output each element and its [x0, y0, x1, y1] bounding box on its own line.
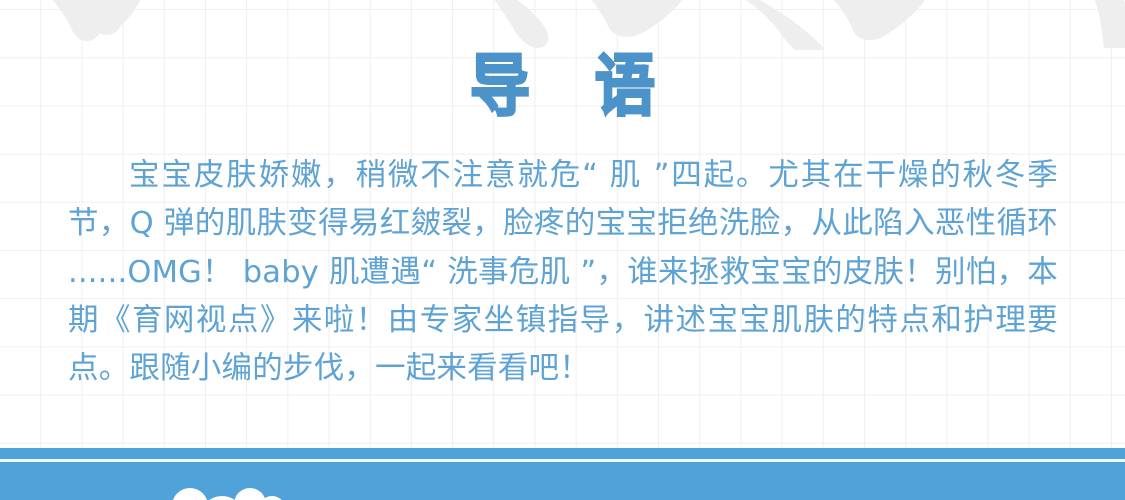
article-body: 宝宝皮肤娇嫩，稍微不注意就危“ 肌 ”四起。尤其在干燥的秋冬季节，Q 弹的肌肤变…	[68, 152, 1058, 393]
footer-white-stripe	[0, 459, 1125, 462]
footer-blue-band	[0, 448, 1125, 500]
footer-cloud-bumps	[0, 466, 1125, 500]
page-title-container: 导 语	[0, 52, 1125, 115]
top-cloud-decoration	[0, 0, 1125, 50]
white-cloud-circles	[172, 488, 286, 500]
gray-scallop-shapes	[36, 0, 1125, 50]
article-paragraph: 宝宝皮肤娇嫩，稍微不注意就危“ 肌 ”四起。尤其在干燥的秋冬季节，Q 弹的肌肤变…	[68, 152, 1058, 393]
guide-page: 导 语 宝宝皮肤娇嫩，稍微不注意就危“ 肌 ”四起。尤其在干燥的秋冬季节，Q 弹…	[0, 0, 1125, 500]
page-title: 导 语	[448, 52, 677, 123]
